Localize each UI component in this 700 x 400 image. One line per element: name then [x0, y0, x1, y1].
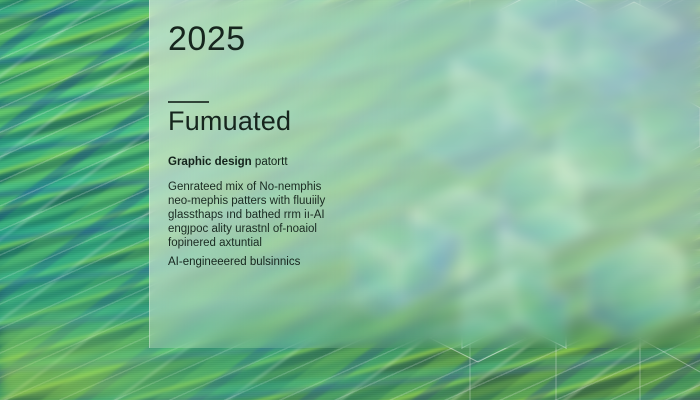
eyebrow-label: Graphic design patortt [168, 156, 288, 170]
tagline-text: AI-engineeered bulsinnics [168, 256, 300, 270]
body-line: glassthaps ınd bathed rrm iı-AI [168, 208, 325, 222]
body-line: Genrateed mix of No-nemphis [168, 180, 325, 194]
body-line: fopinered axtuntial [168, 236, 325, 250]
body-line: neo-mephis patters with fluuiily [168, 194, 325, 208]
poster-canvas: 2025 Fumuated Graphic design patortt Gen… [0, 0, 700, 400]
glass-accent-2 [636, 92, 700, 166]
poster-text-content: 2025 Fumuated Graphic design patortt Gen… [168, 0, 368, 400]
page-title: Fumuated [168, 107, 291, 137]
divider-rule [168, 101, 209, 103]
body-line: engȷpoc ality urastnl of-noaiol [168, 222, 325, 236]
glass-hook-form [588, 234, 684, 336]
eyebrow-light-text: patortt [255, 156, 288, 168]
eyebrow-strong-text: Graphic design [168, 156, 252, 168]
body-paragraph: Genrateed mix of No-nemphis neo-mephis p… [168, 180, 325, 250]
year-label: 2025 [168, 22, 246, 56]
